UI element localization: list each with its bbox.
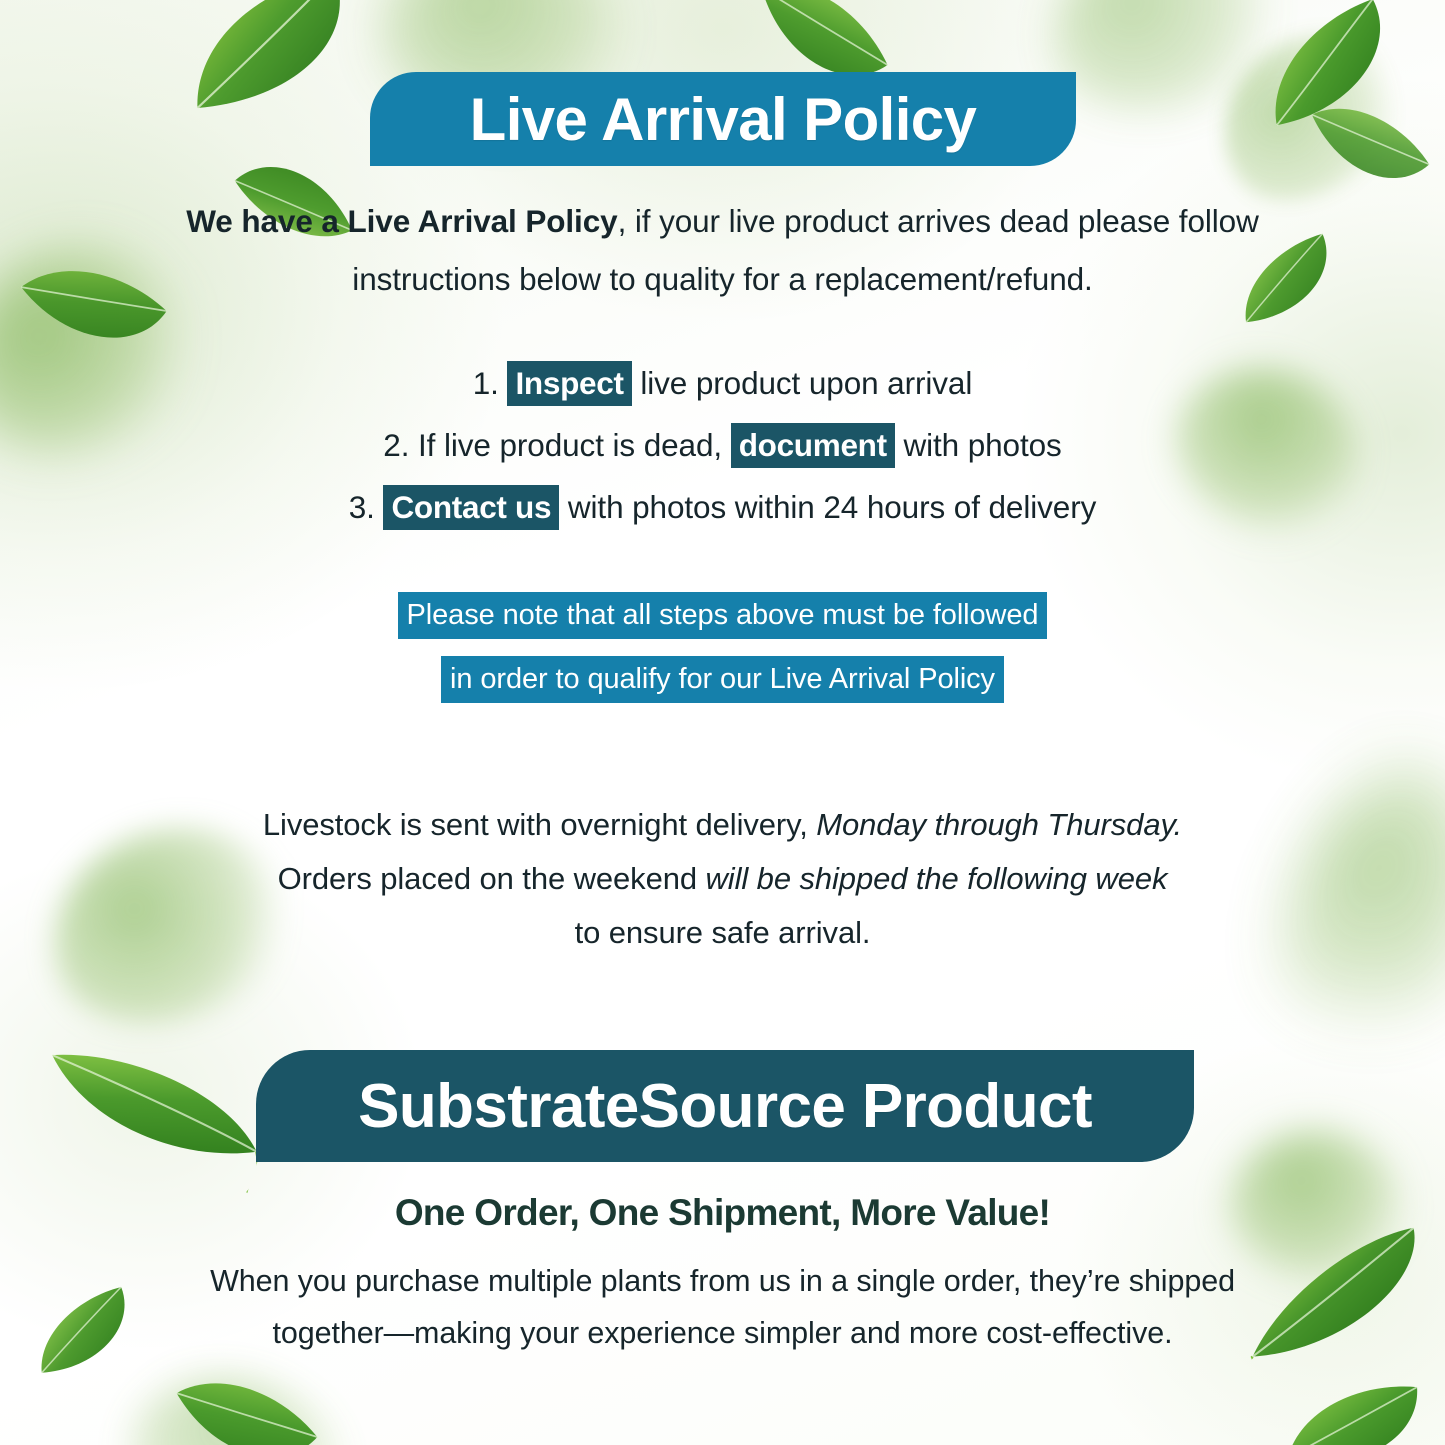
list-item: 3. Contact us with photos within 24 hour… xyxy=(120,476,1325,538)
step-highlight-inspect: Inspect xyxy=(507,361,631,406)
blurb-line-1: When you purchase multiple plants from u… xyxy=(140,1255,1305,1307)
shipping-line-1: Livestock is sent with overnight deliver… xyxy=(150,798,1295,852)
intro-rest-phrase: , if your live product arrives dead plea… xyxy=(618,203,1259,239)
step-text-after: with photos xyxy=(895,427,1062,463)
list-item: 2. If live product is dead, document wit… xyxy=(120,414,1325,476)
step-text-before: If live product is dead, xyxy=(409,427,730,463)
note-line-1-wrap: Please note that all steps above must be… xyxy=(120,583,1325,647)
shipping-line-3: to ensure safe arrival. xyxy=(150,906,1295,960)
shipping-line-2: Orders placed on the weekend will be shi… xyxy=(150,852,1295,906)
shipping-line-2-plain: Orders placed on the weekend xyxy=(278,861,706,896)
note-line-2: in order to qualify for our Live Arrival… xyxy=(441,656,1004,703)
step-highlight-contact-us[interactable]: Contact us xyxy=(383,485,559,530)
shipping-line-1-italic: Monday through Thursday. xyxy=(816,807,1182,842)
substratesource-product-banner: SubstrateSource Product xyxy=(256,1050,1194,1162)
promo-graphic-canvas: Live Arrival Policy We have a Live Arriv… xyxy=(0,0,1445,1445)
live-arrival-steps-list: 1. Inspect live product upon arrival 2. … xyxy=(120,352,1325,538)
note-line-1: Please note that all steps above must be… xyxy=(398,592,1048,639)
blurred-leaf-bokeh xyxy=(108,1345,372,1445)
blurb-line-2: together—making your experience simpler … xyxy=(140,1307,1305,1359)
step-number: 3. xyxy=(349,489,375,525)
step-text-after: live product upon arrival xyxy=(632,365,973,401)
step-text-after: with photos within 24 hours of delivery xyxy=(559,489,1096,525)
note-line-2-wrap: in order to qualify for our Live Arrival… xyxy=(120,647,1325,711)
step-number: 2. xyxy=(383,427,409,463)
substratesource-blurb: When you purchase multiple plants from u… xyxy=(140,1255,1305,1359)
step-highlight-document: document xyxy=(731,423,895,468)
shipping-line-1-plain: Livestock is sent with overnight deliver… xyxy=(263,807,816,842)
step-number: 1. xyxy=(473,365,499,401)
intro-bold-phrase: We have a Live Arrival Policy xyxy=(186,203,617,239)
live-arrival-intro-text: We have a Live Arrival Policy, if your l… xyxy=(150,192,1295,308)
leaf-icon xyxy=(1232,0,1430,164)
live-arrival-policy-banner: Live Arrival Policy xyxy=(370,72,1076,166)
leaf-icon xyxy=(11,1267,159,1406)
list-item: 1. Inspect live product upon arrival xyxy=(120,352,1325,414)
live-arrival-policy-banner-title: Live Arrival Policy xyxy=(470,85,977,154)
intro-line-2: instructions below to quality for a repl… xyxy=(352,261,1092,297)
leaf-icon xyxy=(1271,1364,1440,1445)
policy-note-box: Please note that all steps above must be… xyxy=(120,583,1325,711)
leaf-icon xyxy=(152,0,399,160)
leaf-icon xyxy=(1285,65,1445,225)
leaf-icon xyxy=(24,1014,283,1209)
shipping-line-2-italic: will be shipped the following week xyxy=(706,861,1168,896)
livestock-shipping-text: Livestock is sent with overnight deliver… xyxy=(150,798,1295,960)
substratesource-subheading: One Order, One Shipment, More Value! xyxy=(150,1192,1295,1234)
substratesource-product-banner-title: SubstrateSource Product xyxy=(358,1071,1092,1142)
